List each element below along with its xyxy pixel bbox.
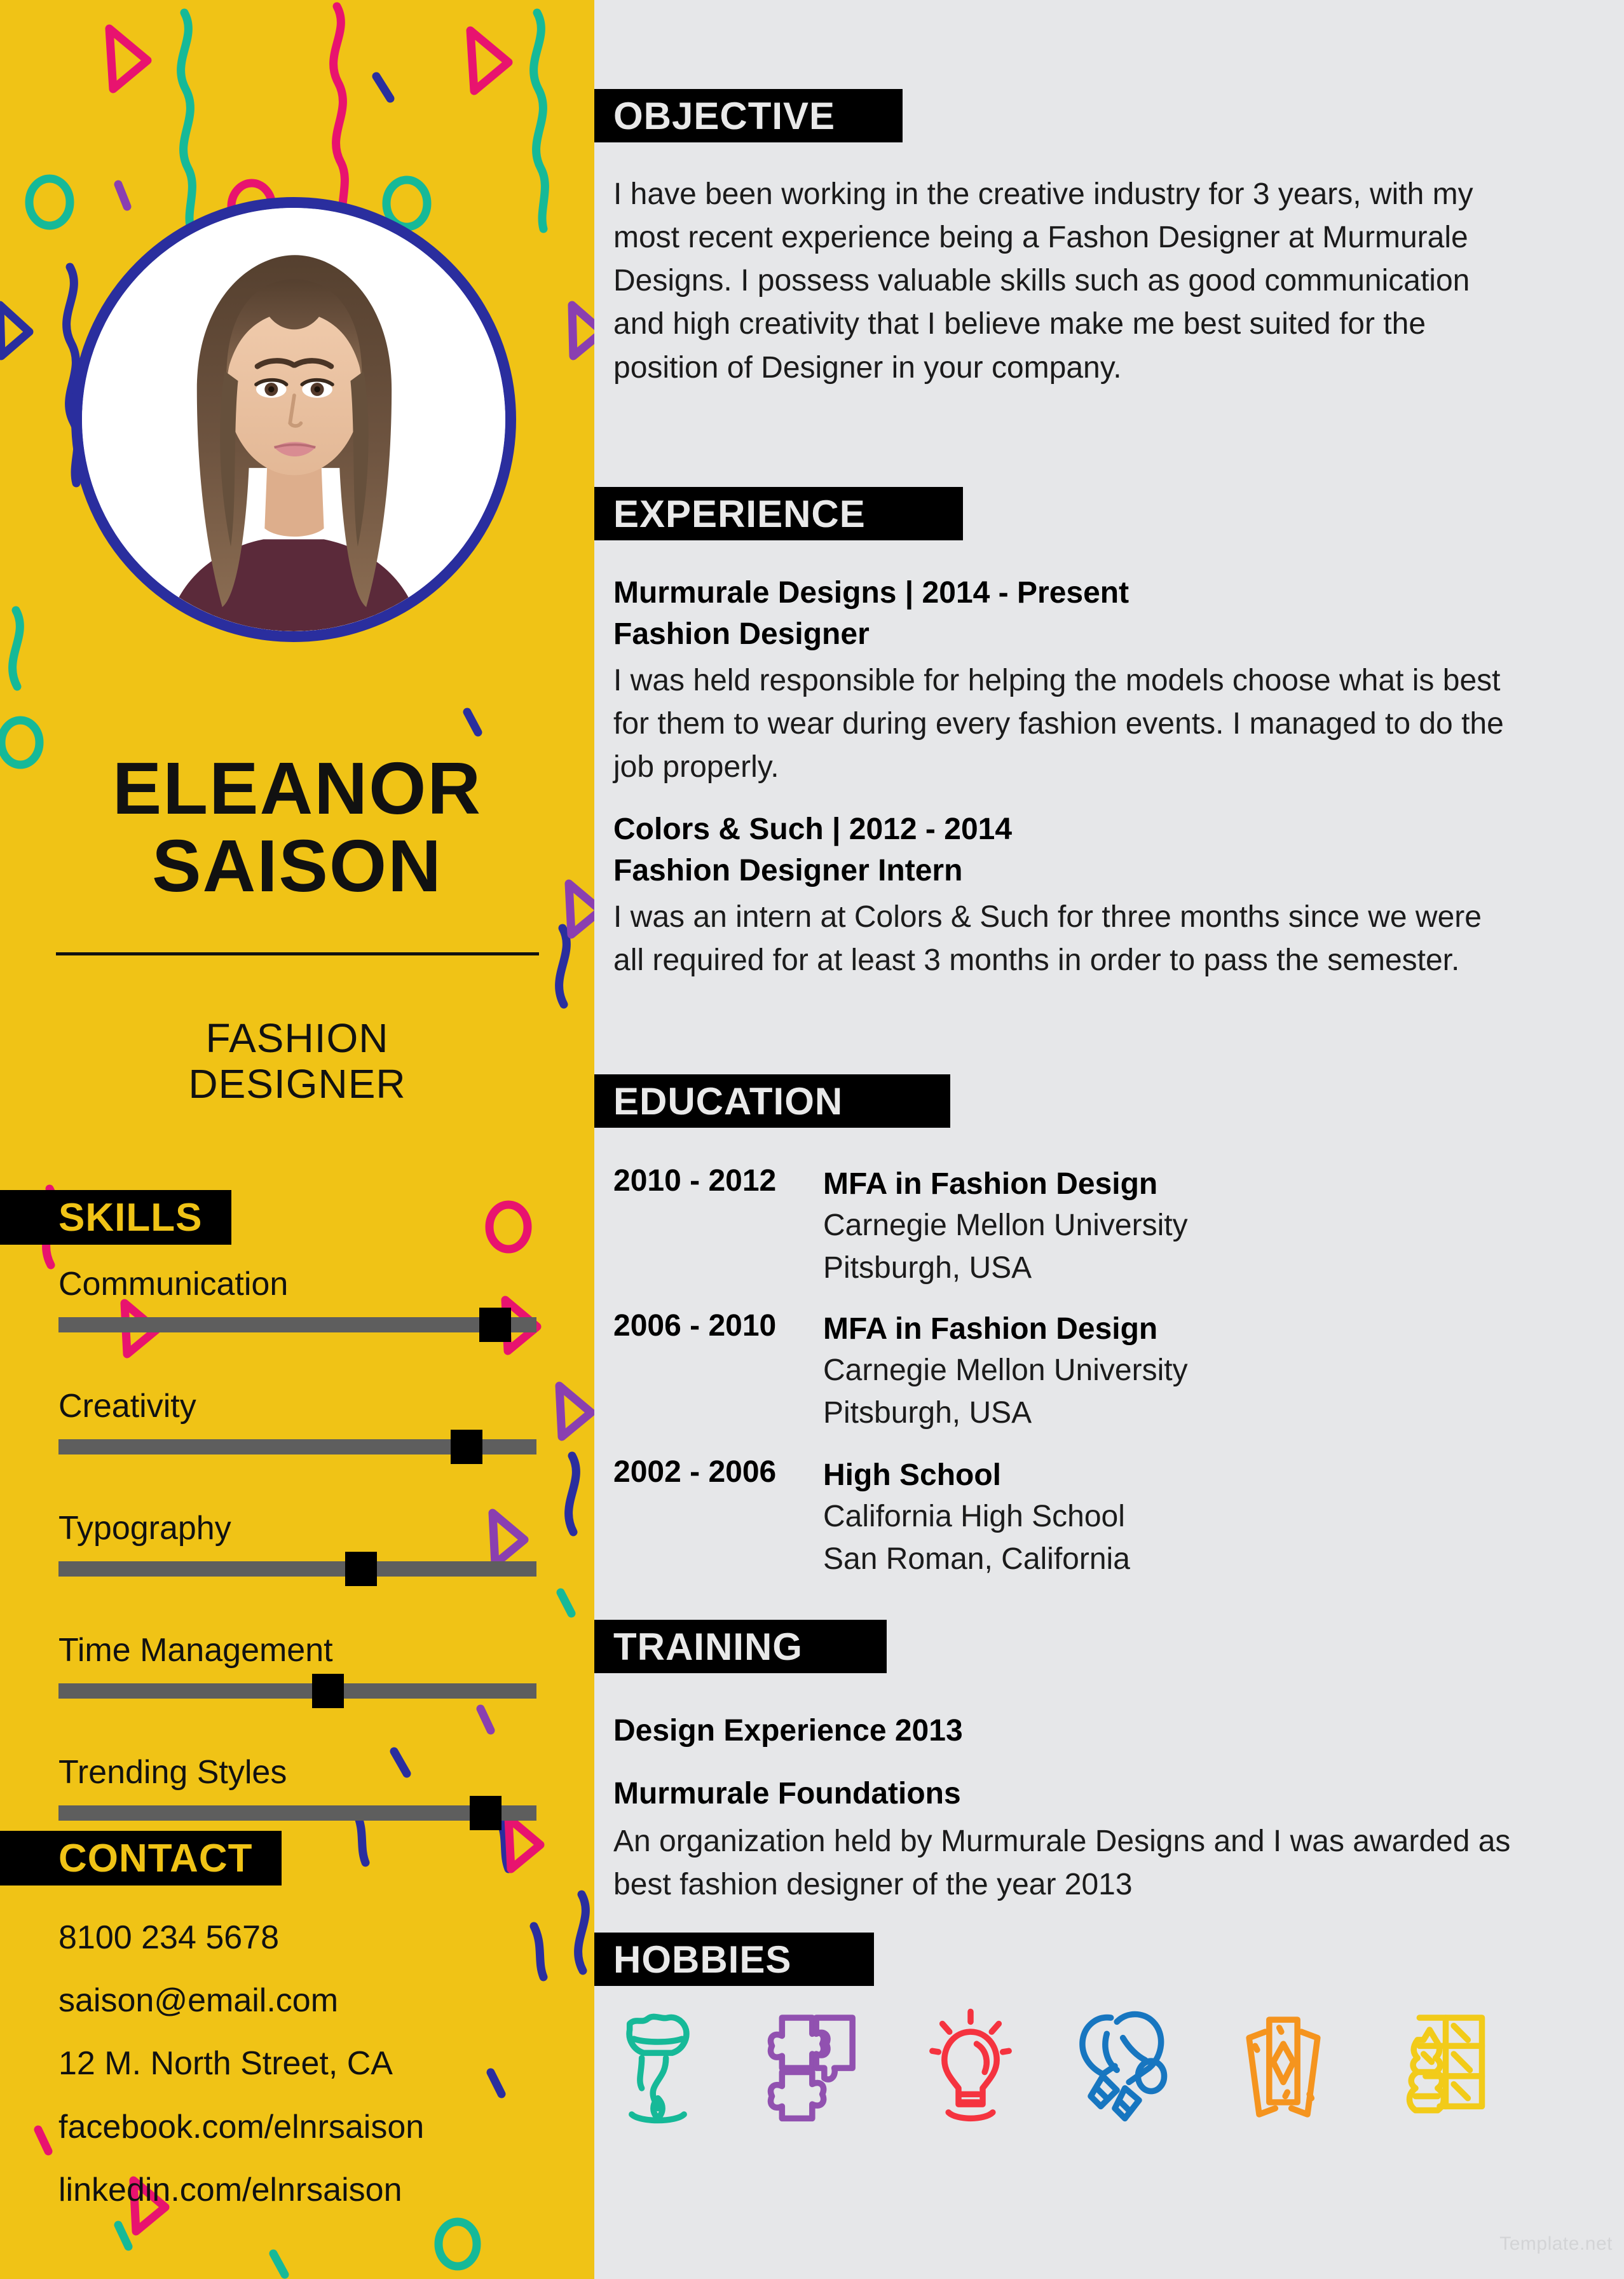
left-sidebar: ELEANOR SAISON FASHION DESIGNER SKILLS C… [0, 0, 594, 2279]
skill-label: Communication [58, 1265, 536, 1303]
avatar [71, 197, 516, 642]
main-content: OBJECTIVE I have been working in the cre… [594, 0, 1624, 2279]
education-location: Pitsburgh, USA [823, 1247, 1306, 1289]
education-school: Carnegie Mellon University [823, 1350, 1306, 1392]
experience-company: Colors & Such | 2012 - 2014 [613, 809, 1516, 850]
experience-description: I was an intern at Colors & Such for thr… [613, 896, 1516, 982]
objective-heading: OBJECTIVE [594, 89, 903, 142]
contact-facebook[interactable]: facebook.com/elnrsaison [58, 2109, 567, 2146]
skill-label: Time Management [58, 1631, 536, 1669]
last-name: SAISON [0, 828, 594, 905]
education-item: 2002 - 2006 High School California High … [613, 1454, 1306, 1580]
slider-handle[interactable] [479, 1308, 511, 1342]
resume-page: ELEANOR SAISON FASHION DESIGNER SKILLS C… [0, 0, 1624, 2279]
objective-heading-label: OBJECTIVE [613, 94, 835, 138]
slider-handle[interactable] [345, 1552, 377, 1586]
skill-item: Time Management [58, 1631, 536, 1699]
education-degree: MFA in Fashion Design [823, 1163, 1306, 1205]
skill-slider[interactable] [58, 1317, 536, 1332]
skill-label: Typography [58, 1509, 536, 1547]
skill-slider[interactable] [58, 1561, 536, 1577]
cocktail-glass-icon [607, 2006, 709, 2126]
hobbies-heading-label: HOBBIES [613, 1938, 791, 1981]
slider-handle[interactable] [470, 1796, 502, 1830]
training-program: Design Experience 2013 [613, 1710, 1541, 1751]
contact-list: 8100 234 5678 saison@email.com 12 M. Nor… [58, 1920, 567, 2235]
contact-phone[interactable]: 8100 234 5678 [58, 1920, 567, 1956]
education-degree: High School [823, 1454, 1306, 1496]
experience-item: Colors & Such | 2012 - 2014 Fashion Desi… [613, 809, 1516, 982]
watermark: Template.net [1499, 2233, 1613, 2255]
table-tennis-icon [1076, 2006, 1178, 2126]
experience-company: Murmurale Designs | 2014 - Present [613, 572, 1516, 613]
skill-item: Creativity [58, 1387, 536, 1454]
training-heading-label: TRAINING [613, 1625, 803, 1669]
experience-title: Fashion Designer Intern [613, 850, 1516, 891]
education-location: Pitsburgh, USA [823, 1392, 1306, 1434]
playing-cards-icon [1232, 2006, 1334, 2126]
chess-icon [1389, 2006, 1491, 2126]
education-location: San Roman, California [823, 1538, 1306, 1580]
experience-item: Murmurale Designs | 2014 - Present Fashi… [613, 572, 1516, 789]
training-item: Design Experience 2013 Murmurale Foundat… [613, 1710, 1541, 1906]
contact-address: 12 M. North Street, CA [58, 2046, 567, 2082]
experience-heading: EXPERIENCE [594, 487, 963, 540]
education-item: 2006 - 2010 MFA in Fashion Design Carneg… [613, 1308, 1306, 1434]
education-school: California High School [823, 1496, 1306, 1538]
education-school: Carnegie Mellon University [823, 1205, 1306, 1247]
contact-heading-label: CONTACT [58, 1836, 252, 1881]
education-years: 2010 - 2012 [613, 1163, 823, 1289]
training-heading: TRAINING [594, 1620, 887, 1673]
skill-slider[interactable] [58, 1439, 536, 1454]
name-divider [56, 952, 539, 955]
skill-item: Communication [58, 1265, 536, 1332]
skill-slider[interactable] [58, 1805, 536, 1821]
education-item: 2010 - 2012 MFA in Fashion Design Carneg… [613, 1163, 1306, 1289]
first-name: ELEANOR [0, 750, 594, 828]
hobbies-heading: HOBBIES [594, 1933, 874, 1986]
education-heading: EDUCATION [594, 1074, 950, 1128]
contact-heading: CONTACT [0, 1831, 282, 1885]
education-degree: MFA in Fashion Design [823, 1308, 1306, 1350]
slider-handle[interactable] [312, 1674, 344, 1708]
skills-heading: SKILLS [0, 1190, 231, 1245]
skill-label: Trending Styles [58, 1753, 536, 1791]
education-years: 2002 - 2006 [613, 1454, 823, 1580]
skill-item: Typography [58, 1509, 536, 1577]
page-title: ELEANOR SAISON [0, 750, 594, 905]
lightbulb-icon [920, 2006, 1021, 2126]
puzzle-icon [763, 2006, 865, 2126]
skill-item: Trending Styles [58, 1753, 536, 1821]
training-description: An organization held by Murmurale Design… [613, 1820, 1541, 1906]
training-organization: Murmurale Foundations [613, 1773, 1541, 1814]
education-years: 2006 - 2010 [613, 1308, 823, 1434]
contact-email[interactable]: saison@email.com [58, 1983, 567, 2019]
portrait-image [82, 208, 505, 631]
job-role: FASHION DESIGNER [0, 1016, 594, 1107]
experience-heading-label: EXPERIENCE [613, 492, 866, 536]
experience-description: I was held responsible for helping the m… [613, 659, 1516, 789]
experience-title: Fashion Designer [613, 613, 1516, 655]
role-line-1: FASHION [0, 1016, 594, 1062]
education-heading-label: EDUCATION [613, 1079, 843, 1123]
skill-slider[interactable] [58, 1683, 536, 1699]
hobbies-icon-row [607, 2006, 1599, 2126]
skill-label: Creativity [58, 1387, 536, 1425]
contact-linkedin[interactable]: linkedin.com/elnrsaison [58, 2172, 567, 2208]
objective-text: I have been working in the creative indu… [613, 173, 1503, 390]
skills-heading-label: SKILLS [58, 1195, 202, 1240]
role-line-2: DESIGNER [0, 1062, 594, 1107]
slider-handle[interactable] [451, 1430, 482, 1464]
